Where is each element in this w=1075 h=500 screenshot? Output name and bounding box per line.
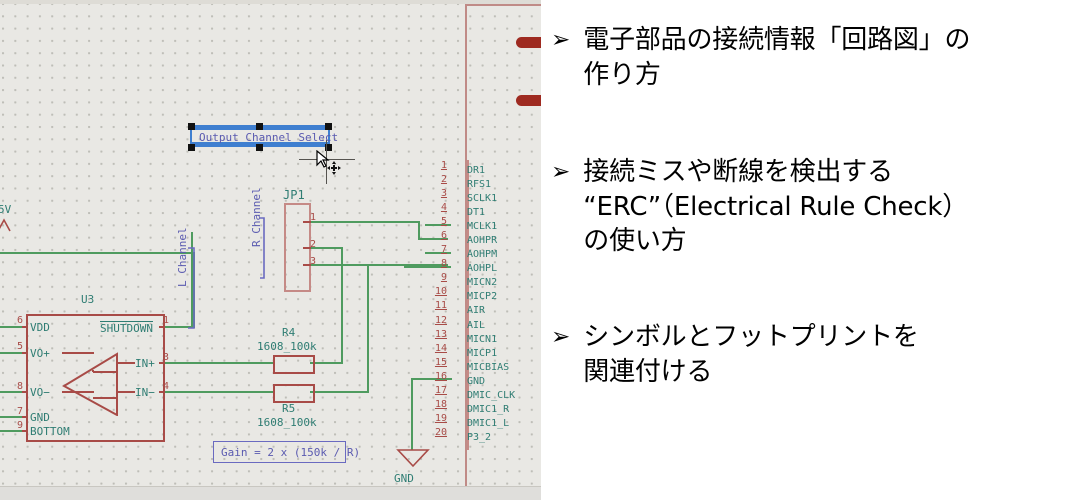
ic-pin-name: AOHPL xyxy=(467,263,497,274)
ic-pin-number: 13 xyxy=(435,329,447,340)
wire-segment xyxy=(0,352,24,354)
bullet-text-1: 電子部品の接続情報「回路図」の 作り方 xyxy=(583,23,970,92)
connector-refdes: JP1 xyxy=(283,188,305,202)
wire-segment xyxy=(425,224,451,226)
wire-segment xyxy=(411,378,413,450)
resistor-value-r5: 1608_100k xyxy=(257,416,317,429)
wire-segment xyxy=(310,391,369,393)
ic-pin-name: SCLK1 xyxy=(467,193,497,204)
resize-handle-ne[interactable] xyxy=(325,123,332,130)
wire-segment xyxy=(0,326,24,328)
resistor-value-r4: 1608_100k xyxy=(257,340,317,353)
resistor-body-r5[interactable] xyxy=(273,384,315,403)
resistor-refdes-r5: R5 xyxy=(282,402,295,415)
resize-handle-s[interactable] xyxy=(256,144,263,151)
pin-tick xyxy=(159,391,165,393)
pin-tick xyxy=(303,221,311,223)
bullet-text-3: シンボルとフットプリントを 関連付ける xyxy=(583,320,918,389)
schematic-canvas[interactable]: U3 6 VDD 5 VO+ 8 VO− 7 GND 9 BOTTOM 1 SH… xyxy=(0,0,541,500)
canvas-top-strip xyxy=(0,0,541,4)
pin-tick xyxy=(303,264,311,266)
ic-pin-number: 8 xyxy=(441,258,447,269)
pin-label-bottom: BOTTOM xyxy=(30,425,70,438)
wire-segment xyxy=(160,391,275,393)
ic-pin-number: 12 xyxy=(435,315,447,326)
ic-pin-number: 7 xyxy=(441,244,447,255)
ic-pin-name: P3_2 xyxy=(467,432,491,443)
pin-tick xyxy=(22,326,28,328)
ic-pin-number: 10 xyxy=(435,286,447,297)
pin-tick xyxy=(159,362,165,364)
opamp-output-stub xyxy=(117,362,135,364)
move-tool-icon xyxy=(327,161,341,175)
power-flag-icon xyxy=(0,218,14,232)
pin-tick xyxy=(22,416,28,418)
opamp-input-stub xyxy=(62,391,94,393)
l-channel-bracket xyxy=(150,200,198,360)
ic-pin-number: 15 xyxy=(435,357,447,368)
ic-pin-name: DR1 xyxy=(467,165,485,176)
pin-label-shutdown: SHUTDOWN xyxy=(100,321,153,335)
ic-pin-name: RFS1 xyxy=(467,179,491,190)
pin-tick xyxy=(22,352,28,354)
vertical-label-l-channel: L Channel xyxy=(176,227,189,287)
pin-label-vo-minus: VO− xyxy=(30,386,50,399)
wire-segment xyxy=(425,252,451,254)
ic-pin-number: 2 xyxy=(441,174,447,185)
ic-pin-name: MICN1 xyxy=(467,334,497,345)
resistor-body-r4[interactable] xyxy=(273,355,315,374)
chevron-bullet-icon: ➢ xyxy=(551,161,570,184)
opamp-input-stub xyxy=(62,352,94,354)
chevron-bullet-icon: ➢ xyxy=(551,326,570,349)
ic-pin-name: AOHPM xyxy=(467,249,497,260)
pin-tick xyxy=(303,247,311,249)
ground-label: GND xyxy=(394,472,414,485)
bullet-item-2: ➢ 接続ミスや断線を検出する “ERC”（Electrical Rule Che… xyxy=(551,155,1075,259)
bullet-item-3: ➢ シンボルとフットプリントを 関連付ける xyxy=(551,320,1071,389)
ic-pin-name: MICP2 xyxy=(467,291,497,302)
gain-note-text: Gain = 2 x (150k / R) xyxy=(221,446,360,459)
wire-segment xyxy=(307,221,420,223)
selected-text-label: Output Channel Select xyxy=(199,131,338,144)
ic-pin-name: MICBIAS xyxy=(467,362,509,373)
ic-pin-number: 18 xyxy=(435,399,447,410)
pin-label-gnd: GND xyxy=(30,411,50,424)
wire-segment xyxy=(367,264,369,393)
ic-pin-name: AIL xyxy=(467,320,485,331)
canvas-bottom-strip xyxy=(0,487,541,500)
resize-handle-n[interactable] xyxy=(256,123,263,130)
vertical-label-r-channel: R Channel xyxy=(250,187,263,247)
ic-pin-name: AIR xyxy=(467,305,485,316)
ic-pin-name: GND xyxy=(467,376,485,387)
bullet-text-2: 接続ミスや断線を検出する “ERC”（Electrical Rule Check… xyxy=(583,155,968,259)
ic-pin-number: 11 xyxy=(435,300,447,311)
ic-pin-number: 5 xyxy=(441,216,447,227)
pin-number-5: 5 xyxy=(17,341,23,352)
ic-pin-number: 17 xyxy=(435,385,447,396)
opamp-refdes: U3 xyxy=(81,293,94,306)
ic-pin-number: 20 xyxy=(435,427,447,438)
ic-pin-name: DT1 xyxy=(467,207,485,218)
ic-pin-number: 6 xyxy=(441,230,447,241)
opamp-output-stub xyxy=(117,391,135,393)
ic-pin-name: MICN2 xyxy=(467,277,497,288)
bullet-item-1: ➢ 電子部品の接続情報「回路図」の 作り方 xyxy=(551,23,1071,92)
ic-pin-number: 3 xyxy=(441,188,447,199)
ic-pin-name: AOHPR xyxy=(467,235,497,246)
ic-pin-name: DMIC_CLK xyxy=(467,390,515,401)
ic-pin-number: 19 xyxy=(435,413,447,424)
power-label-partial: 5V xyxy=(0,203,11,216)
ic-pin-name: MICP1 xyxy=(467,348,497,359)
pin-label-vo-plus: VO+ xyxy=(30,347,50,360)
resistor-refdes-r4: R4 xyxy=(282,326,295,339)
gain-note-box[interactable]: Gain = 2 x (150k / R) xyxy=(213,441,346,463)
text-panel: ➢ 電子部品の接続情報「回路図」の 作り方 ➢ 接続ミスや断線を検出する “ER… xyxy=(541,0,1075,500)
ic-pin-name: DMIC1_L xyxy=(467,418,509,429)
ic-pin-number: 16 xyxy=(435,371,447,382)
ground-symbol-icon xyxy=(396,448,430,470)
ic-pin-number: 14 xyxy=(435,343,447,354)
pin-label-vdd: VDD xyxy=(30,321,50,334)
chevron-bullet-icon: ➢ xyxy=(551,29,570,52)
ic-pin-name: MCLK1 xyxy=(467,221,497,232)
resize-handle-nw[interactable] xyxy=(188,123,195,130)
ic-pin-number: 9 xyxy=(441,272,447,283)
pin-tick xyxy=(22,430,28,432)
pin-tick xyxy=(22,391,28,393)
ic-pin-number: 1 xyxy=(441,160,447,171)
pin-number-6: 6 xyxy=(17,315,23,326)
resize-handle-sw[interactable] xyxy=(188,144,195,151)
wire-segment xyxy=(160,362,275,364)
ic-pin-name: DMIC1_R xyxy=(467,404,509,415)
ic-pin-number: 4 xyxy=(441,202,447,213)
slide-root: U3 6 VDD 5 VO+ 8 VO− 7 GND 9 BOTTOM 1 SH… xyxy=(0,0,1075,500)
